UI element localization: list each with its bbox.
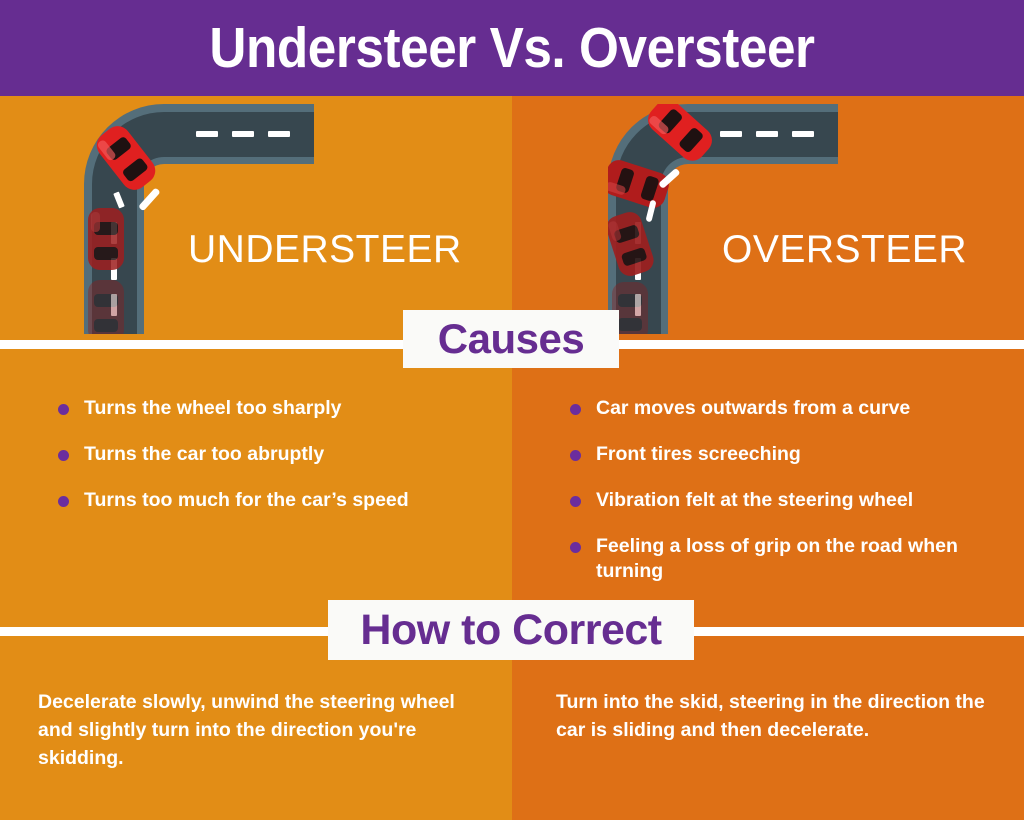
list-item: Car moves outwards from a curve	[570, 396, 1010, 421]
bullet-dot-icon	[570, 404, 581, 415]
list-item: Turns the car too abruptly	[58, 442, 498, 467]
correction-text-understeer: Decelerate slowly, unwind the steering w…	[38, 688, 490, 772]
bullet-dot-icon	[570, 496, 581, 507]
understeer-diagram	[84, 104, 314, 334]
list-item-label: Turns too much for the car’s speed	[84, 489, 409, 511]
list-item: Turns the wheel too sharply	[58, 396, 498, 421]
bullet-dot-icon	[58, 404, 69, 415]
car-ghost-3	[88, 280, 124, 334]
page-title: Understeer Vs. Oversteer	[51, 0, 973, 96]
causes-list-understeer: Turns the wheel too sharply Turns the ca…	[58, 396, 498, 534]
banner-causes: Causes	[403, 310, 619, 368]
list-item-label: Turns the car too abruptly	[84, 443, 324, 465]
list-item: Feeling a loss of grip on the road when …	[570, 534, 1010, 584]
oversteer-diagram	[608, 104, 838, 334]
list-item-label: Car moves outwards from a curve	[596, 397, 910, 419]
correction-text-oversteer: Turn into the skid, steering in the dire…	[556, 688, 996, 744]
list-item-label: Turns the wheel too sharply	[84, 397, 342, 419]
banner-causes-label: Causes	[438, 315, 584, 363]
list-item: Vibration felt at the steering wheel	[570, 488, 1010, 513]
banner-how-to-correct: How to Correct	[328, 600, 694, 660]
list-item: Front tires screeching	[570, 442, 1010, 467]
oversteer-label: OVERSTEER	[722, 228, 967, 272]
car-ghost-2	[88, 208, 124, 270]
list-item-label: Front tires screeching	[596, 443, 801, 465]
bullet-dot-icon	[58, 450, 69, 461]
list-item-label: Feeling a loss of grip on the road when …	[596, 535, 958, 582]
road-curve-oversteer-icon	[608, 104, 838, 334]
bullet-dot-icon	[570, 450, 581, 461]
list-item-label: Vibration felt at the steering wheel	[596, 489, 913, 511]
banner-how-to-correct-label: How to Correct	[360, 606, 661, 655]
bullet-dot-icon	[570, 542, 581, 553]
list-item: Turns too much for the car’s speed	[58, 488, 498, 513]
road-curve-understeer-icon	[84, 104, 314, 334]
understeer-label: UNDERSTEER	[188, 228, 462, 272]
header-bar: Understeer Vs. Oversteer	[0, 0, 1024, 96]
causes-list-oversteer: Car moves outwards from a curve Front ti…	[570, 396, 1010, 605]
bullet-dot-icon	[58, 496, 69, 507]
infographic-understeer-vs-oversteer: Understeer Vs. Oversteer	[0, 0, 1024, 820]
